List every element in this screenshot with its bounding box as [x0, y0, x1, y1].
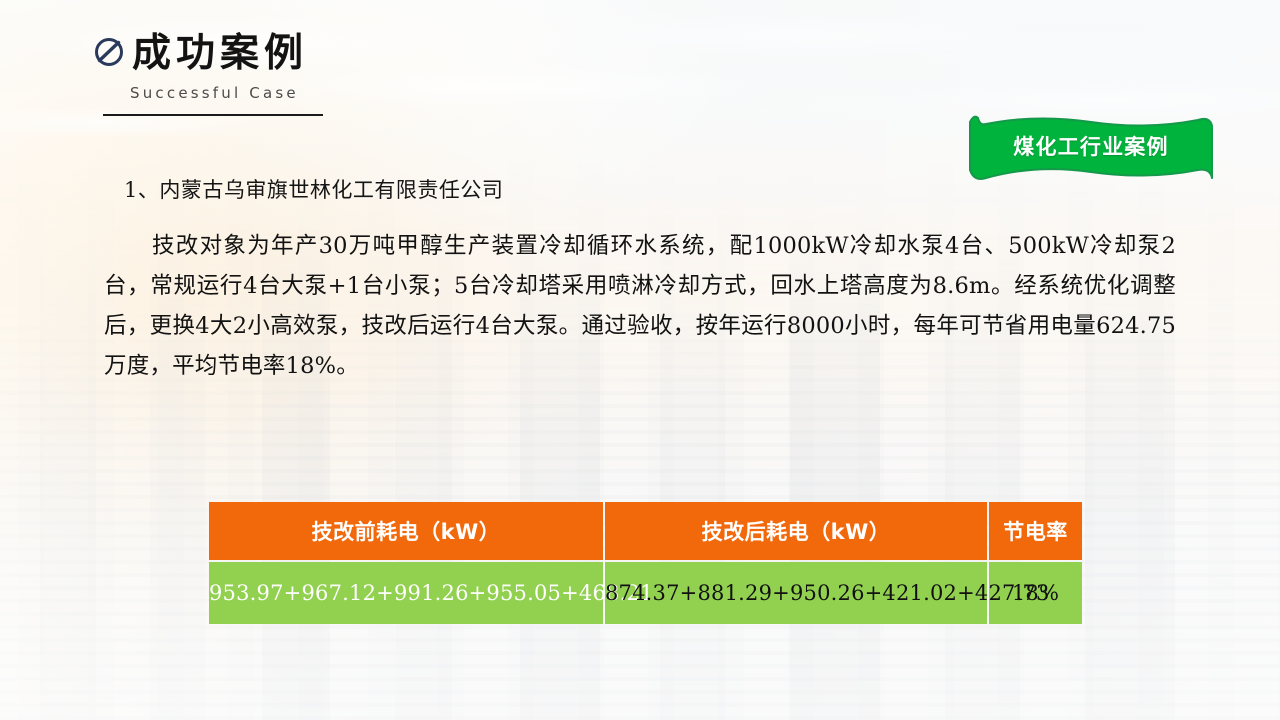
page-subtitle: Successful Case [130, 84, 323, 102]
table-row: 953.97+967.12+991.26+955.05+468.21 874.3… [209, 562, 1082, 624]
industry-ribbon-banner: 煤化工行业案例 [966, 112, 1216, 190]
cell-before-consumption: 953.97+967.12+991.26+955.05+468.21 [209, 562, 603, 624]
body-content: 1、内蒙古乌审旗世林化工有限责任公司 技改对象为年产30万吨甲醇生产装置冷却循环… [104, 174, 1176, 386]
table-header-after: 技改后耗电（kW） [605, 502, 987, 560]
table-head: 技改前耗电（kW） 技改后耗电（kW） 节电率 [209, 502, 1082, 560]
case-paragraph: 技改对象为年产30万吨甲醇生产装置冷却循环水系统，配1000kW冷却水泵4台、5… [104, 226, 1176, 386]
slide-header: 成功案例 Successful Case [92, 34, 323, 116]
table-body: 953.97+967.12+991.26+955.05+468.21 874.3… [209, 562, 1082, 624]
ribbon-label: 煤化工行业案例 [966, 131, 1216, 161]
title-underline [103, 114, 323, 116]
page-title: 成功案例 [132, 34, 308, 75]
title-row: 成功案例 [92, 34, 323, 75]
table-header-rate: 节电率 [989, 502, 1082, 560]
table-header-row: 技改前耗电（kW） 技改后耗电（kW） 节电率 [209, 502, 1082, 560]
results-table: 技改前耗电（kW） 技改后耗电（kW） 节电率 953.97+967.12+99… [207, 500, 1084, 626]
slashed-circle-icon [92, 35, 126, 69]
table-header-before: 技改前耗电（kW） [209, 502, 603, 560]
cell-after-consumption: 874.37+881.29+950.26+421.02+427.73 [605, 562, 987, 624]
results-table-wrapper: 技改前耗电（kW） 技改后耗电（kW） 节电率 953.97+967.12+99… [207, 500, 1080, 626]
slide-canvas: 成功案例 Successful Case 煤化工行业案例 1、内蒙古乌审旗世林化… [0, 0, 1280, 720]
